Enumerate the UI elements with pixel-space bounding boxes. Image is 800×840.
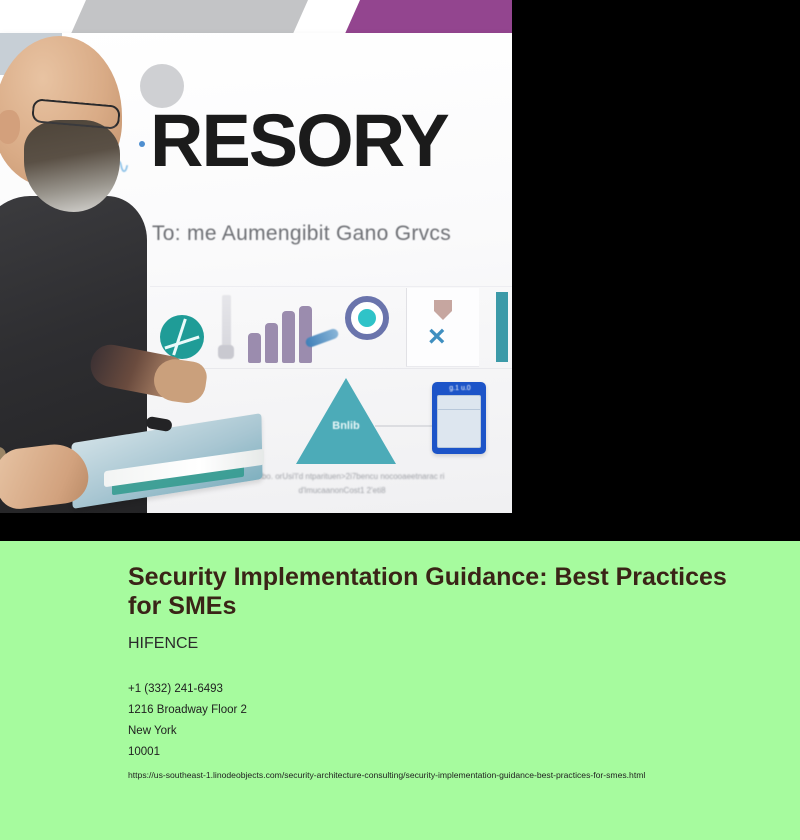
- document-card-label: g.1 u.0: [440, 385, 480, 392]
- connector-line: [375, 425, 433, 427]
- person-figure: [0, 28, 232, 513]
- teal-bar-shape: [496, 292, 508, 362]
- contact-address: 1216 Broadway Floor 2: [128, 700, 760, 721]
- page-title: Security Implementation Guidance: Best P…: [128, 563, 728, 621]
- close-x-icon: ×: [428, 322, 446, 352]
- bar-2: [265, 323, 278, 363]
- person-hand-right: [151, 357, 208, 406]
- hero-image: ∿ RESORY To: me Aumengibit Gano Grvcs × …: [0, 0, 512, 513]
- contact-zip: 10001: [128, 742, 760, 763]
- info-panel: Security Implementation Guidance: Best P…: [0, 541, 800, 840]
- deco-purple-shape: [342, 0, 512, 34]
- bar-1: [248, 333, 261, 363]
- bar-4: [299, 306, 312, 363]
- contact-city: New York: [128, 721, 760, 742]
- document-card-body: [437, 395, 481, 448]
- board-caption: Inpt Iribo. orUsi'l'd ntparituen>2i7benc…: [232, 470, 452, 497]
- info-content: Security Implementation Guidance: Best P…: [128, 563, 760, 784]
- bar-3: [282, 311, 295, 363]
- contact-block: +1 (332) 241-6493 1216 Broadway Floor 2 …: [128, 679, 760, 784]
- bar-chart-icon: [248, 305, 318, 363]
- triangle-label: Bnlib: [311, 420, 381, 432]
- target-center-dot: [358, 309, 376, 327]
- brand-name: HIFENCE: [128, 635, 760, 653]
- page-url[interactable]: https://us-southeast-1.linodeobjects.com…: [128, 766, 760, 784]
- page-root: ∿ RESORY To: me Aumengibit Gano Grvcs × …: [0, 0, 800, 840]
- contact-phone[interactable]: +1 (332) 241-6493: [128, 679, 760, 700]
